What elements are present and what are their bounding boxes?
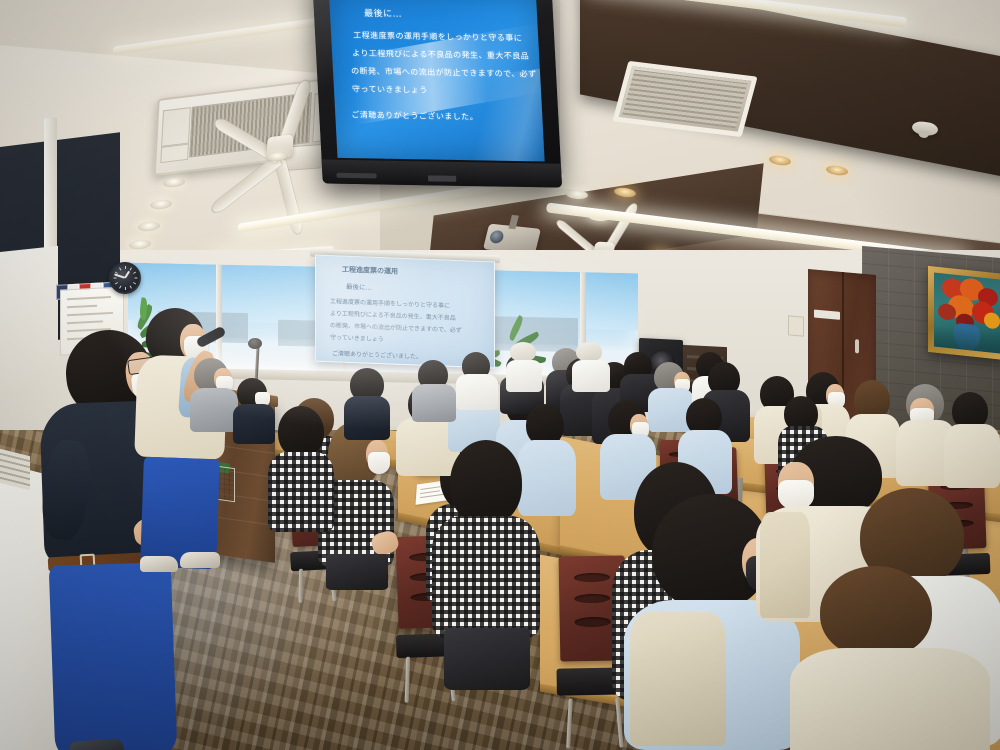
seated-attendee xyxy=(572,342,612,390)
seated-attendee-foreground xyxy=(432,440,542,690)
seated-attendee-foreground xyxy=(820,566,1000,750)
framed-painting xyxy=(928,266,1000,360)
seated-attendee xyxy=(412,360,458,418)
tv-slide-line-3: 工程進度票の運用手順をしっかりと守る事に xyxy=(353,30,522,44)
trousers xyxy=(49,562,178,750)
seated-attendee xyxy=(344,368,392,436)
head-with-cap xyxy=(576,342,602,362)
proj-slide-line-2: 最後に… xyxy=(346,281,372,292)
tv-logo xyxy=(428,175,456,181)
proj-slide-line-7: ご清聴ありがとうございました。 xyxy=(332,348,422,360)
head-with-cap xyxy=(510,342,536,362)
head xyxy=(450,440,522,526)
proj-slide-line-1: 工程進度票の運用 xyxy=(342,265,398,277)
seated-attendee xyxy=(268,406,336,526)
photo-scene: 工程進度票の運用 最後に… 工程進度票の運用手順をしっかりと守る事に より工程飛… xyxy=(0,0,1000,750)
light-switch[interactable] xyxy=(788,315,804,336)
head xyxy=(820,566,932,658)
ac-vane xyxy=(160,144,189,164)
tv-slide-line-5: の断発、市場への流出が防止できますので、必ず xyxy=(351,66,537,80)
proj-slide-line-3: 工程進度票の運用手順をしっかりと守る事に xyxy=(330,296,450,310)
tv-slide-line-4: より工程飛びによる不良品の発生、重大不良品 xyxy=(352,48,530,62)
painting-canvas xyxy=(934,273,1000,354)
seated-attendee xyxy=(944,392,1000,484)
tv-slide-line-2: 最後に… xyxy=(364,6,402,20)
door-handle-icon[interactable] xyxy=(855,339,859,353)
tv-slide-line-7: ご清聴ありがとうございました。 xyxy=(351,109,478,122)
wall-clock xyxy=(109,262,141,294)
clock-hour-hand xyxy=(124,271,130,279)
counter-items xyxy=(0,448,30,490)
seated-attendee xyxy=(456,352,500,406)
presenter-with-microphone xyxy=(132,308,242,568)
tv-ports xyxy=(336,173,376,179)
wall-mounted-tv: 工程進度票の運用 最後に… 工程進度票の運用手順をしっかりと守る事に より工程飛… xyxy=(312,0,562,188)
head xyxy=(278,406,324,458)
proj-slide-line-6: 守っていきましょう xyxy=(330,332,384,343)
tv-screen: 工程進度票の運用 最後に… 工程進度票の運用手順をしっかりと守る事に より工程飛… xyxy=(329,0,545,161)
door-name-plate xyxy=(814,310,840,320)
tv-bezel xyxy=(322,160,563,188)
seated-attendee xyxy=(506,342,544,390)
tv-slide-line-6: 守っていきましょう xyxy=(352,83,428,95)
shoe xyxy=(140,556,178,572)
ac-vane xyxy=(161,107,191,147)
shoe xyxy=(180,552,220,568)
microphone-head-icon xyxy=(248,338,262,349)
